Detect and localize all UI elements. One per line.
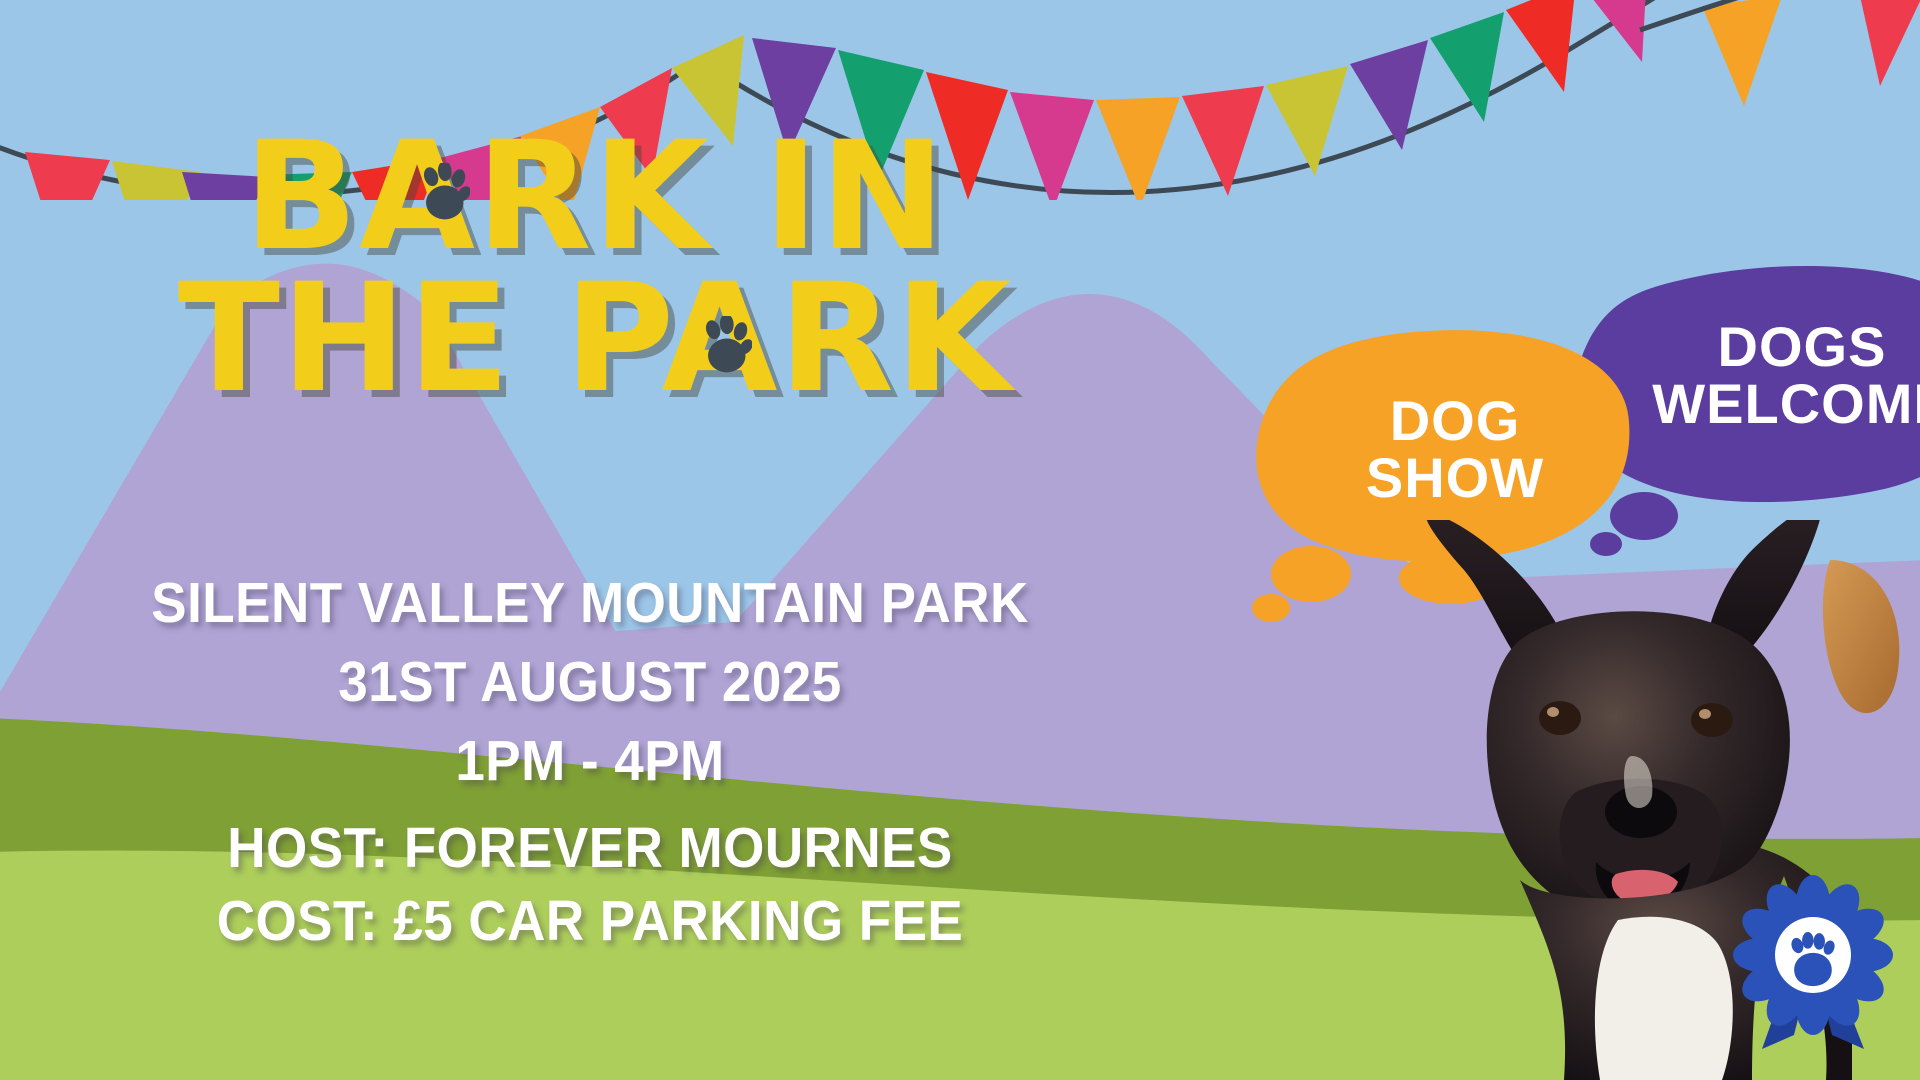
bunting-flags [25,0,1920,200]
bunting-flag [1350,40,1428,150]
dog-tan-shape [1823,560,1899,713]
bunting-flag [600,68,672,178]
bunting-flag [352,158,440,200]
event-details: SILENT VALLEY MOUNTAIN PARK 31ST AUGUST … [0,575,1180,950]
bunting-flag [262,172,352,200]
bunting-flag [672,35,744,146]
event-poster: BARK IN THE PARK SILENT VALLEY MOU [0,0,1920,1080]
event-cost: COST: £5 CAR PARKING FEE [41,893,1138,950]
badge-tail-orange-small [1252,594,1290,622]
dog-eye-right [1691,703,1733,737]
event-host: HOST: FOREVER MOURNES [41,820,1138,877]
badge-dog-show-label: DOG SHOW [1325,392,1585,506]
bunting-flag [440,136,522,200]
event-venue: SILENT VALLEY MOUNTAIN PARK [41,575,1138,632]
bunting-flag [1852,0,1920,86]
dog-eye-left-highlight [1547,707,1559,717]
bunting-flag [1010,92,1094,200]
bunting-flag [752,38,836,155]
event-date: 31ST AUGUST 2025 [41,654,1138,711]
dog-eye-right-highlight [1699,709,1711,719]
bunting-flag [520,107,600,200]
event-time: 1PM - 4PM [41,733,1138,790]
dog-chest-blaze [1595,917,1733,1080]
bunting-flag [1702,0,1782,106]
bunting-flag [25,152,110,200]
dog-eye-left [1539,701,1581,735]
bunting-decoration [0,0,1920,200]
bunting-flag [182,172,267,200]
bunting-flag [1578,0,1648,62]
award-rosette-icon [1728,875,1898,1050]
badge-tail-orange [1271,546,1351,602]
bunting-flag [1096,97,1180,200]
badge-dogs-welcome-label: DOGS WELCOME [1622,318,1920,432]
